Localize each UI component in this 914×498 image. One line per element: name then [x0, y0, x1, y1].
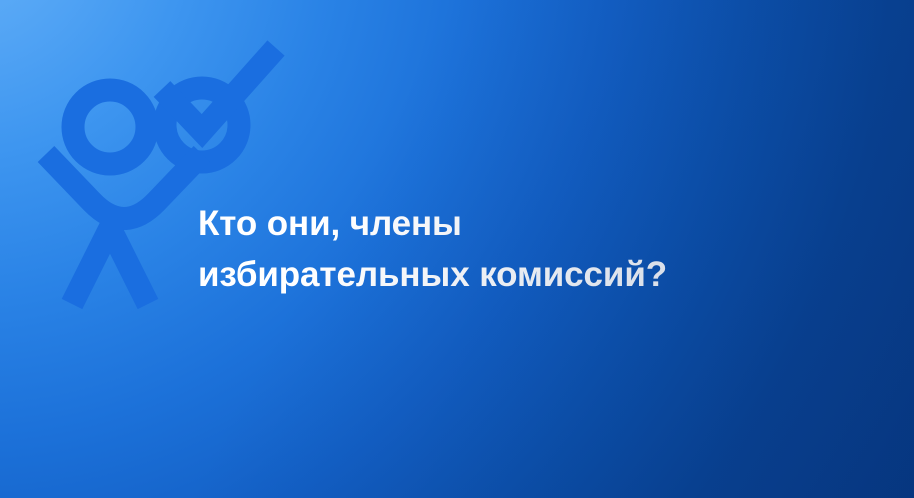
promo-banner: Кто они, члены избирательных комиссий? [0, 0, 914, 498]
legs [72, 228, 148, 304]
left-eye-ring [73, 90, 147, 164]
page-title: Кто они, члены избирательных комиссий? [198, 198, 838, 300]
